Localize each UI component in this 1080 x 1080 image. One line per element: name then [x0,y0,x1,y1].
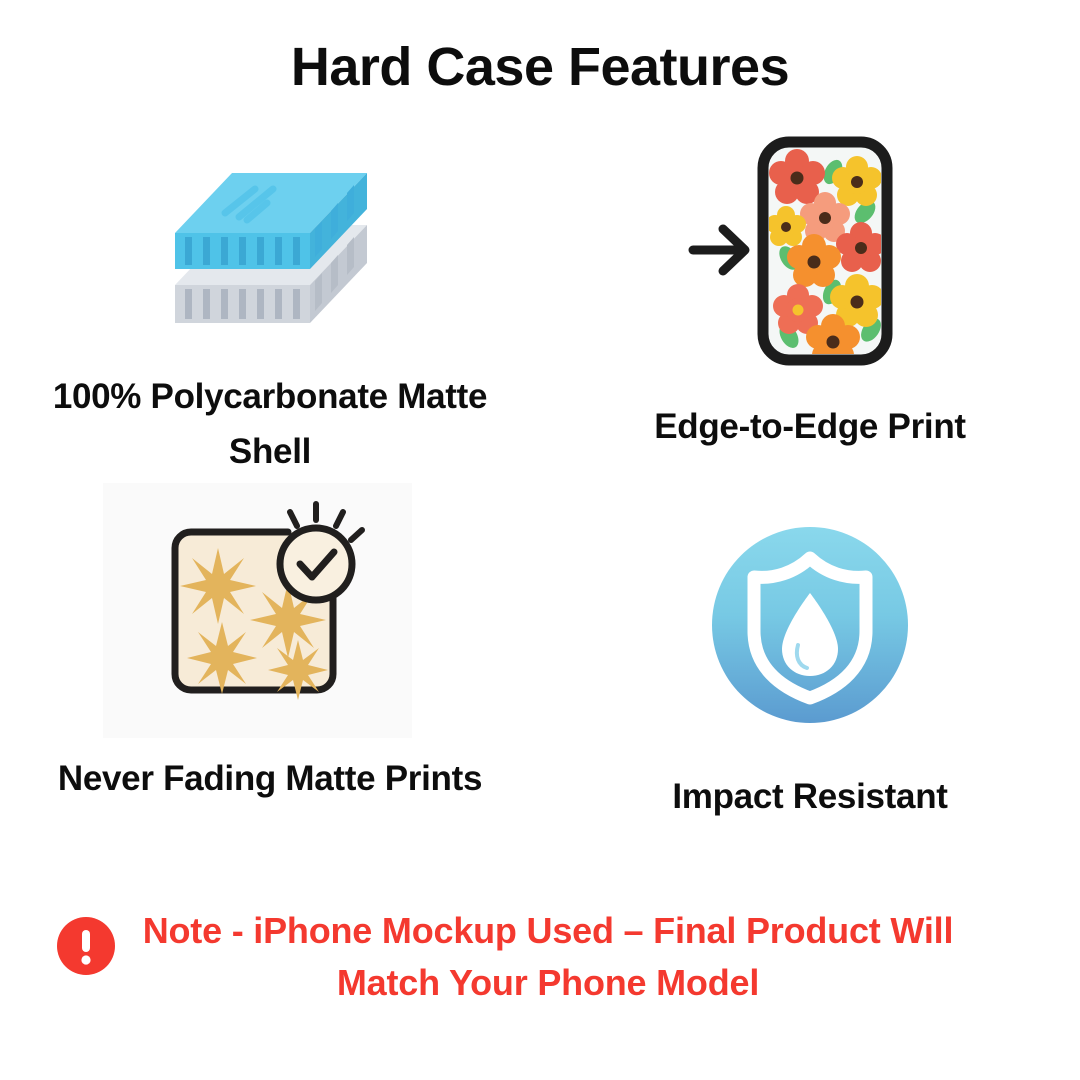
shield-droplet-svg [710,525,910,725]
disclaimer-note: Note - iPhone Mockup Used – Final Produc… [0,905,1080,1009]
layered-slabs-icon [0,160,540,350]
feature-item-edge-to-edge-print: Edge-to-Edge Print [540,130,1080,510]
page-title: Hard Case Features [0,38,1080,97]
feature-label-never-fading-prints: Never Fading Matte Prints [20,752,520,807]
feature-grid: 100% Polycarbonate Matte Shell [0,130,1080,890]
check-circle-badge-icon [280,504,362,600]
exclamation-circle-svg [57,917,115,975]
feature-item-never-fading-prints: Never Fading Matte Prints [0,485,540,865]
feature-item-impact-resistant: Impact Resistant [540,485,1080,865]
feature-item-polycarbonate-shell: 100% Polycarbonate Matte Shell [0,130,540,510]
floral-phone-case-icon [540,130,1080,380]
feature-label-edge-to-edge-print: Edge-to-Edge Print [560,400,1060,455]
disclaimer-note-text: Note - iPhone Mockup Used – Final Produc… [133,905,1023,1009]
exclamation-circle-icon [57,917,115,980]
arrow-right-icon [693,229,745,271]
sparkle-square-check-svg [140,490,400,740]
feature-label-impact-resistant: Impact Resistant [560,770,1060,825]
shield-droplet-icon [540,510,1080,740]
sparkle-square-check-icon [0,485,540,745]
feature-label-polycarbonate-shell: 100% Polycarbonate Matte Shell [20,370,520,479]
floral-phone-case-svg [685,130,935,380]
layered-slabs-svg [155,165,385,345]
